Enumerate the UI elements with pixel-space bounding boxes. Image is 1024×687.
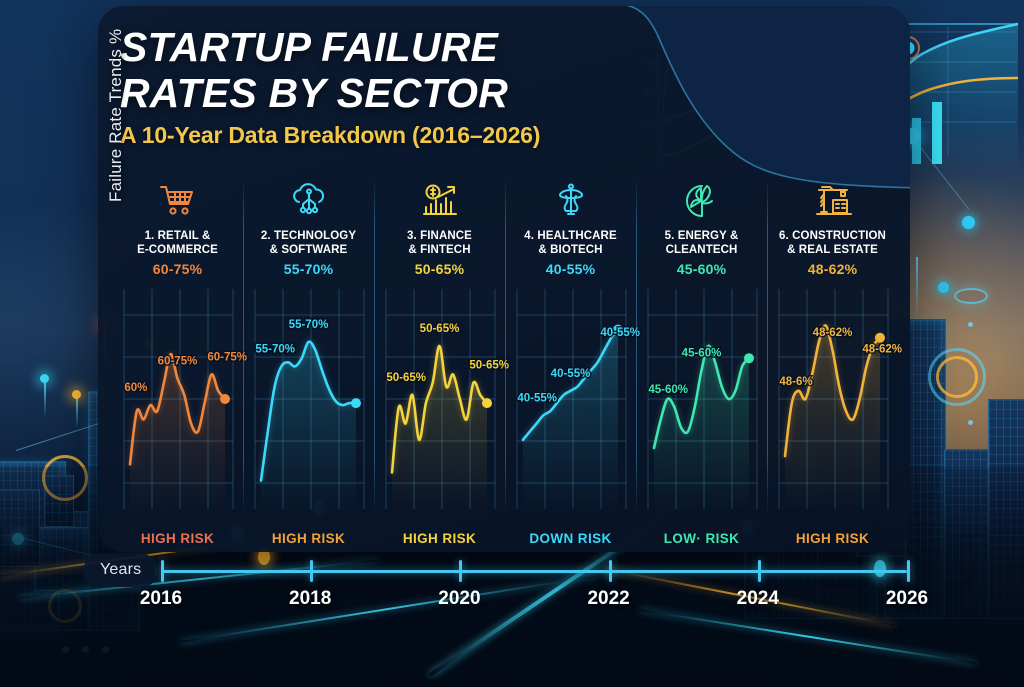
sector-failure-range: 40-55% — [505, 261, 636, 277]
sector-failure-range: 48-62% — [767, 261, 898, 277]
sector-name-line2: & FINTECH — [408, 244, 470, 256]
chart-end-marker — [482, 398, 492, 408]
sector-failure-range: 45-60% — [636, 261, 767, 277]
data-label: 48-6% — [779, 376, 812, 388]
sector-panel-1[interactable]: 1. RETAIL & E-COMMERCE 60-75% — [112, 176, 243, 548]
wind-leaf-icon — [636, 178, 767, 224]
sector-name: 3. FINANCE & FINTECH — [374, 229, 505, 257]
caduceus-icon — [505, 178, 636, 224]
data-label: 60-75% — [158, 356, 198, 368]
risk-badge: HIGH RISK — [243, 531, 374, 546]
sector-sparkline-chart[interactable]: 45-60%45-60% — [642, 285, 761, 513]
sector-name-line1: 6. CONSTRUCTION — [779, 230, 886, 242]
axis-tick-label: 2016 — [140, 588, 182, 610]
sector-name: 2. TECHNOLOGY & SOFTWARE — [243, 229, 374, 257]
data-label: 48-62% — [862, 343, 902, 355]
data-label: 60% — [124, 382, 147, 394]
infographic-canvas: 100% 80 60 40 — [0, 0, 1024, 687]
data-label: 60-75% — [207, 352, 247, 364]
shopping-cart-icon — [112, 178, 243, 224]
data-label: 40-55% — [600, 327, 640, 339]
risk-badge: HIGH RISK — [112, 531, 243, 546]
sector-name: 5. ENERGY & CLEANTECH — [636, 229, 767, 257]
chart-area-fill — [261, 342, 356, 513]
sector-name-line1: 5. ENERGY & — [665, 230, 739, 242]
sector-panel-4[interactable]: 4. HEALTHCARE & BIOTECH 40-55% — [505, 176, 636, 548]
years-axis: Years 201620182020202220242026 — [14, 558, 1014, 618]
sector-panel-6[interactable]: 6. CONSTRUCTION & REAL ESTATE 48-62% — [767, 176, 898, 548]
risk-badge: HIGH RISK — [374, 531, 505, 546]
axis-tick-label: 2020 — [438, 588, 480, 610]
data-label: 40-55% — [517, 392, 557, 404]
main-content-card: STARTUP FAILURE RATES BY SECTOR A 10-Yea… — [98, 6, 910, 552]
sector-sparkline-chart[interactable]: 50-65%50-65%50-65% — [380, 285, 499, 513]
sector-name-line2: E-COMMERCE — [137, 244, 218, 256]
risk-badge: HIGH RISK — [767, 531, 898, 546]
sector-name-line2: CLEANTECH — [666, 244, 738, 256]
risk-badge: DOWN RISK — [505, 531, 636, 546]
data-label: 45-60% — [648, 384, 688, 396]
sector-name-line1: 2. TECHNOLOGY — [261, 230, 356, 242]
axis-line — [161, 570, 907, 573]
title-subtitle: A 10-Year Data Breakdown (2016–2026) — [120, 122, 590, 149]
data-label: 50-65% — [386, 372, 426, 384]
axis-tick — [161, 560, 164, 582]
risk-badge: LOW· RISK — [636, 531, 767, 546]
finance-growth-icon — [374, 178, 505, 224]
sector-name: 6. CONSTRUCTION & REAL ESTATE — [767, 229, 898, 257]
cloud-tech-icon — [243, 178, 374, 224]
sector-sparkline-chart[interactable]: 55-70%55-70% — [249, 285, 368, 513]
axis-tick-label: 2022 — [587, 588, 629, 610]
axis-tick — [758, 560, 761, 582]
axis-tick — [459, 560, 462, 582]
crane-building-icon — [767, 178, 898, 224]
sector-name: 1. RETAIL & E-COMMERCE — [112, 229, 243, 257]
sector-name: 4. HEALTHCARE & BIOTECH — [505, 229, 636, 257]
data-label: 55-70% — [289, 319, 329, 331]
sector-sparkline-chart[interactable]: 60%60-75%60-75% — [118, 285, 237, 513]
data-label: 40-55% — [551, 368, 591, 380]
data-label: 55-70% — [255, 343, 295, 355]
data-label: 48-62% — [813, 327, 853, 339]
title-line-2: RATES BY SECTOR — [120, 70, 590, 116]
page-title: STARTUP FAILURE RATES BY SECTOR A 10-Yea… — [120, 24, 590, 149]
axis-tick — [609, 560, 612, 582]
sector-name-line2: & SOFTWARE — [270, 244, 348, 256]
sector-panel-row: 1. RETAIL & E-COMMERCE 60-75% — [112, 176, 898, 548]
axis-tick-label: 2018 — [289, 588, 331, 610]
sector-failure-range: 55-70% — [243, 261, 374, 277]
sector-name-line1: 3. FINANCE — [407, 230, 472, 242]
sector-failure-range: 50-65% — [374, 261, 505, 277]
chart-end-marker — [351, 398, 361, 408]
sector-failure-range: 60-75% — [112, 261, 243, 277]
axis-tick-label: 2026 — [886, 588, 928, 610]
axis-tick — [907, 560, 910, 582]
sector-name-line1: 4. HEALTHCARE — [524, 230, 616, 242]
sector-sparkline-chart[interactable]: 40-55%40-55%40-55% — [511, 285, 630, 513]
axis-tick — [310, 560, 313, 582]
chart-end-marker — [744, 353, 754, 363]
sector-sparkline-chart[interactable]: 48-6%48-62%48-62% — [773, 285, 892, 513]
sector-panel-2[interactable]: 2. TECHNOLOGY & SOFTWARE 55-70% — [243, 176, 374, 548]
data-label: 50-65% — [469, 360, 509, 372]
chart-end-marker — [220, 394, 230, 404]
sector-name-line2: & REAL ESTATE — [787, 244, 878, 256]
sector-name-line2: & BIOTECH — [538, 244, 602, 256]
sector-panel-5[interactable]: 5. ENERGY & CLEANTECH 45-60% — [636, 176, 767, 548]
sector-panel-3[interactable]: 3. FINANCE & FINTECH 50-65% — [374, 176, 505, 548]
x-axis-label: Years — [84, 554, 157, 587]
data-label: 45-60% — [682, 347, 722, 359]
chart-end-marker — [875, 333, 885, 343]
sector-name-line1: 1. RETAIL & — [145, 230, 211, 242]
axis-tick-label: 2024 — [737, 588, 779, 610]
data-label: 50-65% — [420, 323, 460, 335]
title-line-1: STARTUP FAILURE — [120, 24, 590, 70]
